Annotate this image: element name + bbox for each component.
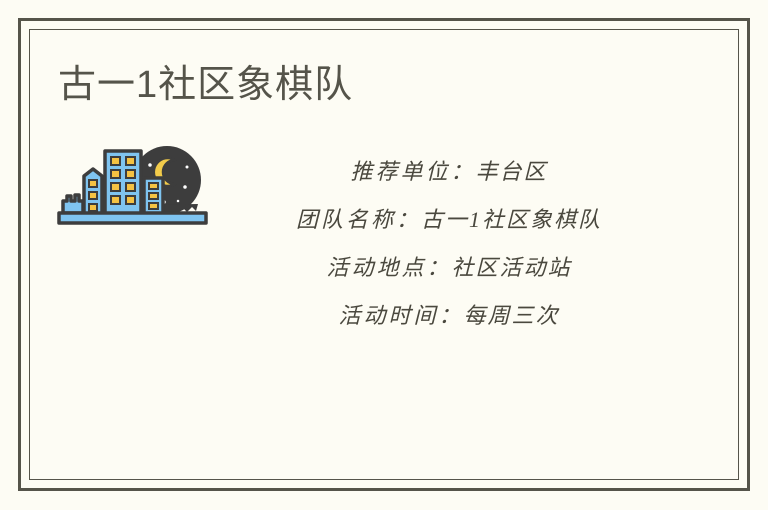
building-second [84,169,102,214]
info-row-location: 活动地点：社区活动站 [199,244,699,292]
card-content: 推荐单位：丰台区 团队名称：古一1社区象棋队 活动地点：社区活动站 活动时间：每… [29,130,739,480]
info-card: 古一1社区象棋队 [0,0,768,510]
building-left-small [63,195,83,213]
city-night-icon [56,143,211,228]
ground-base [59,213,206,223]
info-list: 推荐单位：丰台区 团队名称：古一1社区象棋队 活动地点：社区活动站 活动时间：每… [199,148,699,340]
info-label-location: 活动地点： [326,255,451,280]
info-row-recommender: 推荐单位：丰台区 [199,148,699,196]
info-row-schedule: 活动时间：每周三次 [199,292,699,340]
info-value-recommender: 丰台区 [476,159,548,184]
info-label-schedule: 活动时间： [338,303,463,328]
page-title: 古一1社区象棋队 [58,62,353,108]
info-value-team-name: 古一1社区象棋队 [421,207,602,232]
building-right-narrow [144,178,163,214]
info-label-recommender: 推荐单位： [350,159,475,184]
building-tall-tower [105,151,141,214]
info-value-location: 社区活动站 [452,255,572,280]
info-value-schedule: 每周三次 [464,303,560,328]
info-row-team-name: 团队名称：古一1社区象棋队 [199,196,699,244]
info-label-team-name: 团队名称： [296,207,421,232]
